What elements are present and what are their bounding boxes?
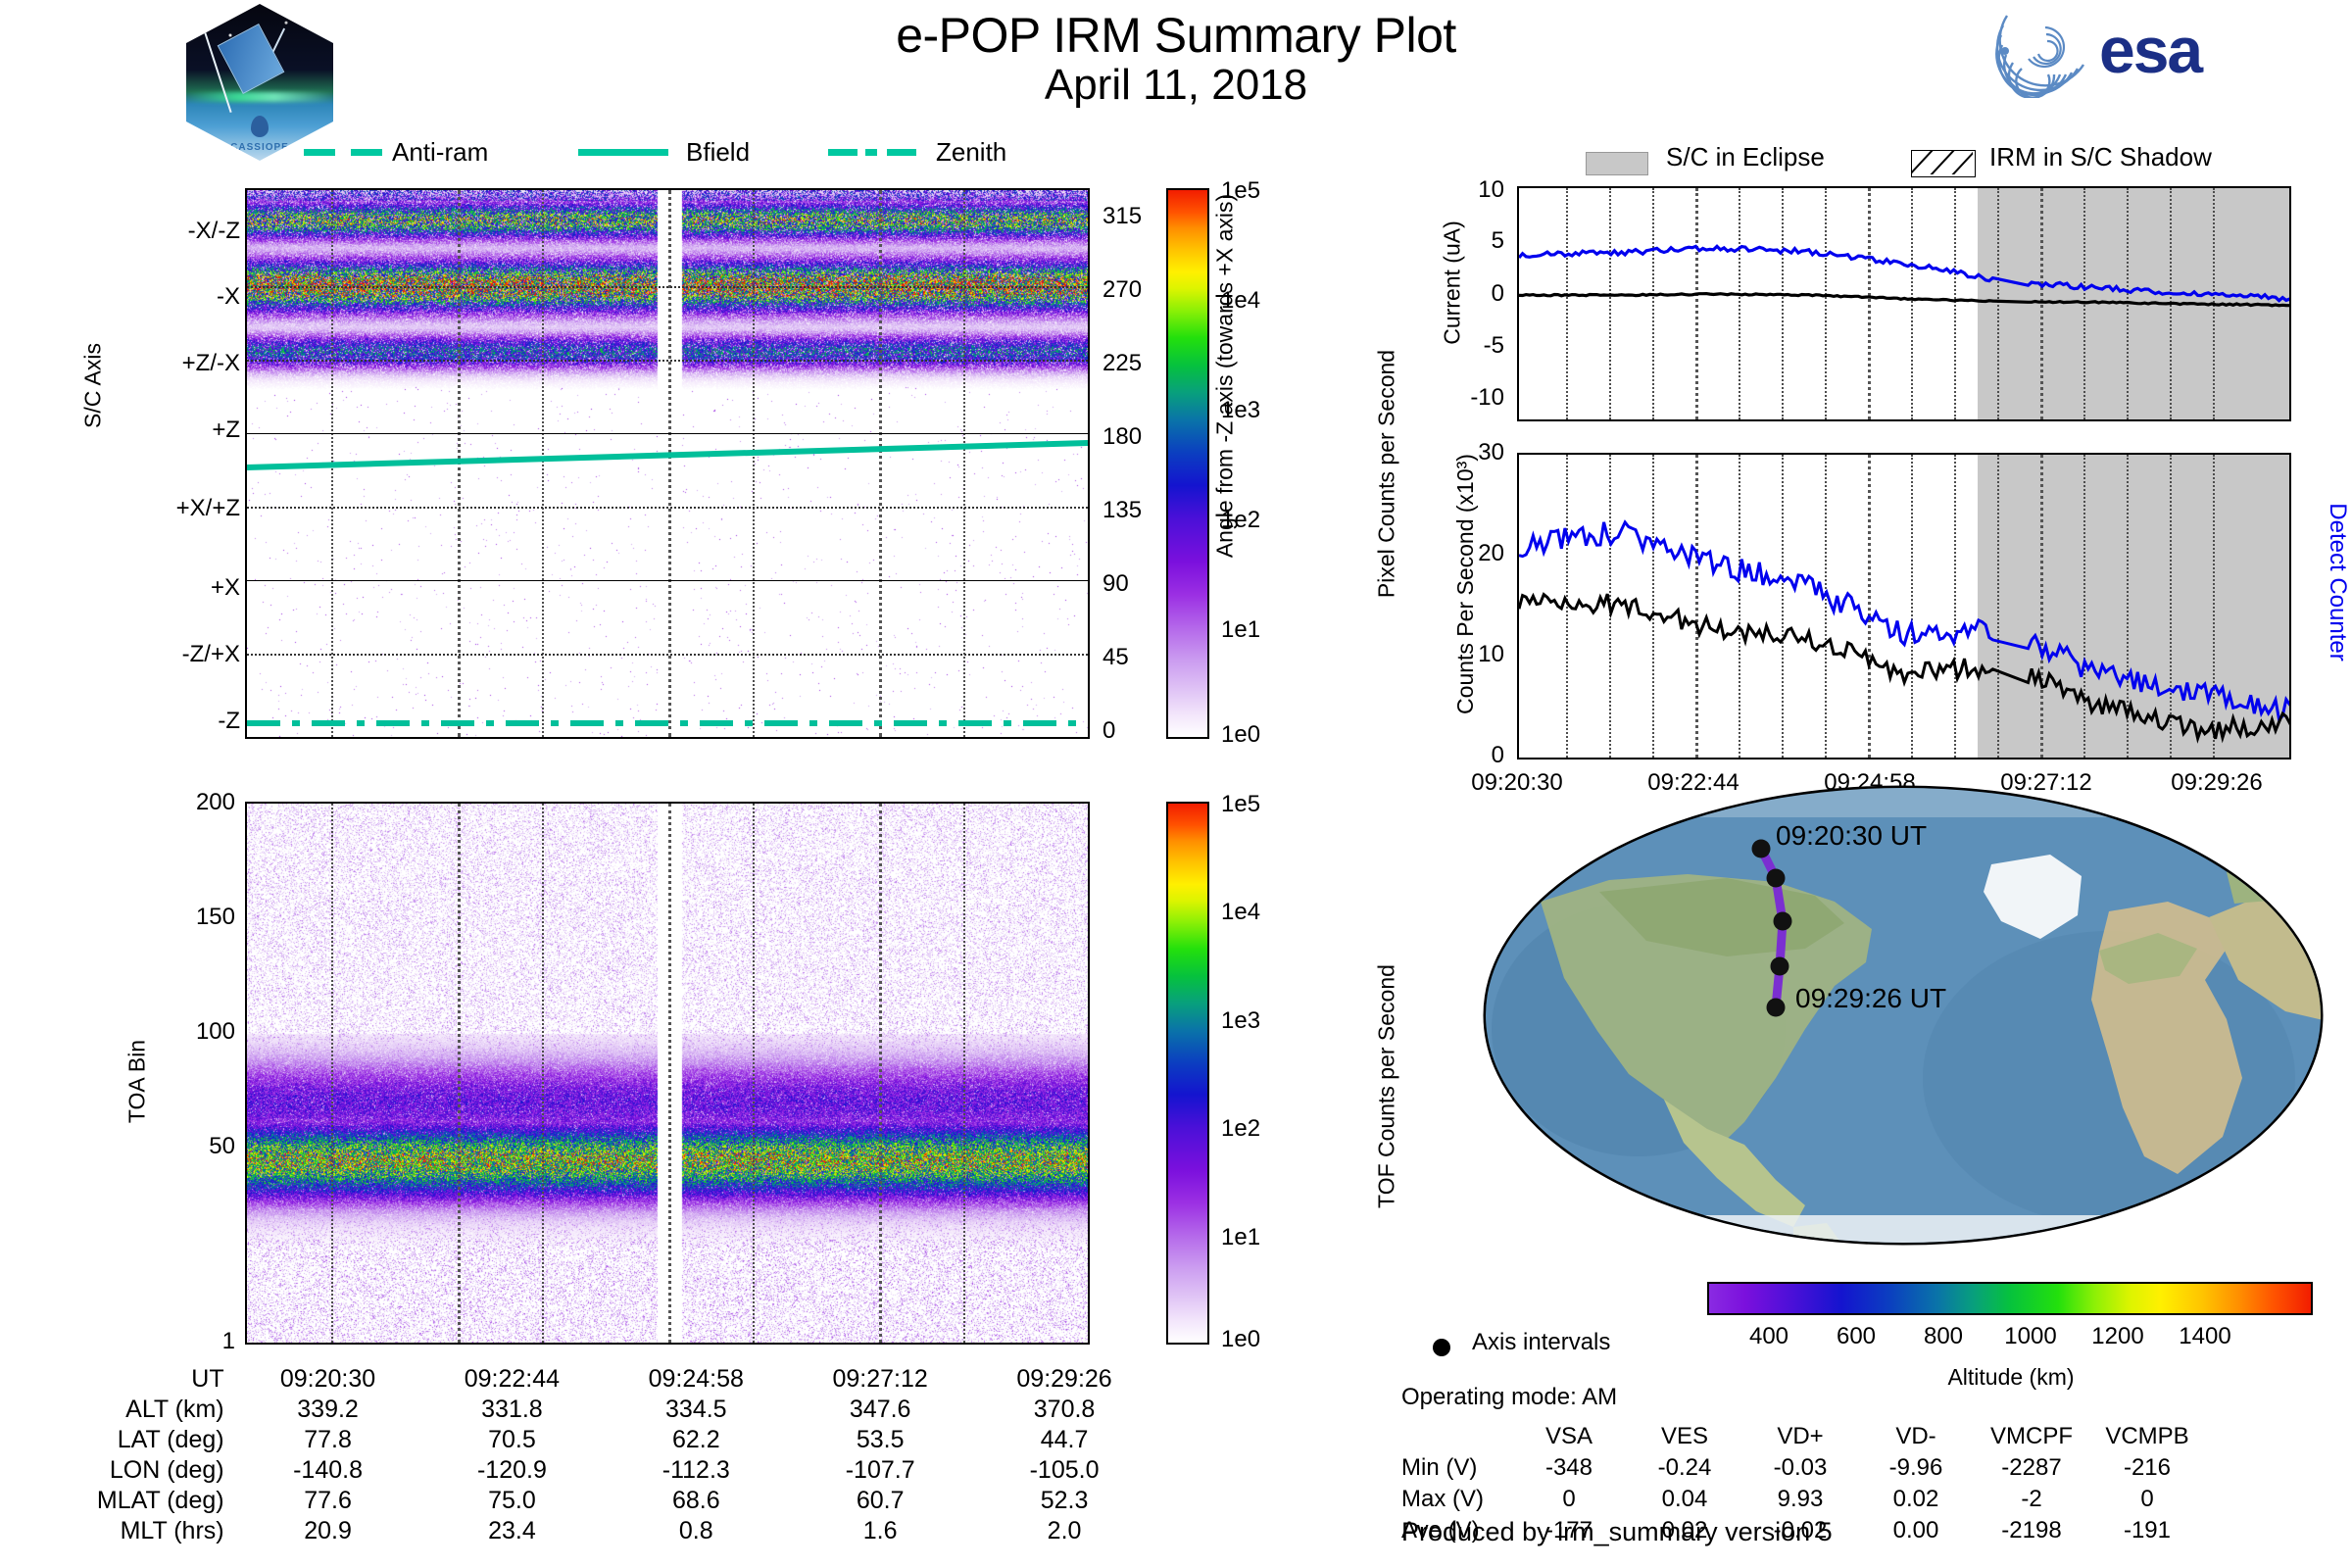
table-row: MLT (hrs) 20.9 23.4 0.8 1.6 2.0 bbox=[39, 1516, 1156, 1546]
eph-row-label-mlt: MLT (hrs) bbox=[39, 1516, 236, 1546]
tof-counts-colorbar bbox=[1166, 802, 1209, 1345]
eph-alt-0: 339.2 bbox=[236, 1395, 420, 1425]
eph-lat-0: 77.8 bbox=[236, 1425, 420, 1455]
eph-mlat-1: 75.0 bbox=[419, 1486, 604, 1516]
volt-max-vsa: 0 bbox=[1511, 1484, 1627, 1515]
eph-ut-4: 09:29:26 bbox=[972, 1364, 1156, 1395]
volt-col-vdp: VD+ bbox=[1742, 1421, 1858, 1452]
volt-col-vcmpb: VCMPB bbox=[2089, 1421, 2205, 1452]
pixel-cbar-tick-3: 1e2 bbox=[1221, 507, 1260, 534]
eph-row-label-alt: ALT (km) bbox=[39, 1395, 236, 1425]
counts-ytick-0: 30 bbox=[1426, 439, 1504, 466]
page-subtitle: April 11, 2018 bbox=[588, 59, 1764, 112]
pixel-counts-colorbar-label: Pixel Counts per Second bbox=[1374, 278, 1400, 670]
legend-label-irm-shadow: IRM in S/C Shadow bbox=[1989, 142, 2212, 172]
eph-mlat-0: 77.6 bbox=[236, 1486, 420, 1516]
altitude-tick-4: 1200 bbox=[2074, 1323, 2162, 1350]
sc-axis-ytick-0: -X/-Z bbox=[78, 218, 240, 245]
volt-min-ves: -0.24 bbox=[1627, 1452, 1742, 1484]
toa-ytick-3: 50 bbox=[147, 1133, 235, 1160]
volt-row-label-min: Min (V) bbox=[1401, 1452, 1511, 1484]
eph-lon-1: -120.9 bbox=[419, 1455, 604, 1486]
legend-swatch-sc-eclipse bbox=[1586, 152, 1648, 175]
volt-max-vdm: 0.02 bbox=[1858, 1484, 1974, 1515]
sc-angle-ytick-0: 315 bbox=[1102, 203, 1142, 230]
table-row: VSA VES VD+ VD- VMCPF VCMPB bbox=[1401, 1421, 2205, 1452]
eph-ut-3: 09:27:12 bbox=[788, 1364, 972, 1395]
volt-corner bbox=[1401, 1421, 1511, 1452]
sc-angle-ytick-1: 270 bbox=[1102, 276, 1142, 304]
eph-row-label-lon: LON (deg) bbox=[39, 1455, 236, 1486]
eph-mlt-4: 2.0 bbox=[972, 1516, 1156, 1546]
volt-col-vmcpf: VMCPF bbox=[1974, 1421, 2089, 1452]
sc-axis-ytick-2: +Z/-X bbox=[78, 350, 240, 377]
volt-min-vmcpf: -2287 bbox=[1974, 1452, 2089, 1484]
current-ytick-4: -10 bbox=[1426, 384, 1504, 412]
tof-cbar-tick-2: 1e3 bbox=[1221, 1007, 1260, 1035]
altitude-colorbar bbox=[1707, 1282, 2313, 1315]
pixel-cbar-tick-0: 1e5 bbox=[1221, 177, 1260, 205]
eph-mlt-1: 23.4 bbox=[419, 1516, 604, 1546]
volt-min-vsa: -348 bbox=[1511, 1452, 1627, 1484]
sc-axis-ytick-7: -Z bbox=[78, 708, 240, 735]
sc-axis-ytick-1: -X bbox=[78, 283, 240, 311]
current-ytick-1: 5 bbox=[1426, 227, 1504, 255]
counts-ylabel: Counts Per Second (x10³) bbox=[1451, 437, 1479, 731]
altitude-tick-2: 800 bbox=[1899, 1323, 1987, 1350]
eph-lon-3: -107.7 bbox=[788, 1455, 972, 1486]
toa-ytick-1: 150 bbox=[147, 904, 235, 931]
eph-ut-0: 09:20:30 bbox=[236, 1364, 420, 1395]
eph-alt-2: 334.5 bbox=[604, 1395, 788, 1425]
eph-lat-1: 70.5 bbox=[419, 1425, 604, 1455]
axis-interval-dot-icon bbox=[1433, 1339, 1450, 1356]
volt-max-ves: 0.04 bbox=[1627, 1484, 1742, 1515]
pixel-cbar-tick-5: 1e0 bbox=[1221, 721, 1260, 749]
sc-angle-ytick-2: 225 bbox=[1102, 350, 1142, 377]
current-ytick-2: 0 bbox=[1426, 280, 1504, 308]
legend-swatch-zenith bbox=[828, 149, 918, 156]
esa-wordmark: esa bbox=[2099, 18, 2201, 82]
table-row: Max (V) 0 0.04 9.93 0.02 -2 0 bbox=[1401, 1484, 2205, 1515]
legend-swatch-irm-shadow bbox=[1911, 150, 1976, 177]
ground-track-map[interactable]: 09:20:30 UT 09:29:26 UT bbox=[1482, 784, 2325, 1247]
eph-lat-2: 62.2 bbox=[604, 1425, 788, 1455]
sc-axis-overlay-curves bbox=[247, 190, 1088, 737]
eph-row-label-lat: LAT (deg) bbox=[39, 1425, 236, 1455]
cassiope-mission-patch-logo: CASSIOPE bbox=[186, 4, 333, 161]
map-end-time-label: 09:29:26 UT bbox=[1795, 983, 1946, 1014]
tof-counts-colorbar-label: TOF Counts per Second bbox=[1374, 891, 1400, 1283]
counts-ytick-2: 10 bbox=[1426, 641, 1504, 668]
counts-series-lines bbox=[1519, 455, 2291, 759]
legend-swatch-anti-ram bbox=[304, 149, 382, 155]
tof-cbar-tick-5: 1e0 bbox=[1221, 1326, 1260, 1353]
table-row: MLAT (deg) 77.6 75.0 68.6 60.7 52.3 bbox=[39, 1486, 1156, 1516]
volt-col-vdm: VD- bbox=[1858, 1421, 1974, 1452]
table-row: LON (deg) -140.8 -120.9 -112.3 -107.7 -1… bbox=[39, 1455, 1156, 1486]
altitude-tick-1: 600 bbox=[1812, 1323, 1900, 1350]
sc-axis-ytick-5: +X bbox=[78, 574, 240, 602]
altitude-tick-5: 1400 bbox=[2161, 1323, 2249, 1350]
current-ytick-0: 10 bbox=[1426, 176, 1504, 204]
volt-max-vdp: 9.93 bbox=[1742, 1484, 1858, 1515]
sc-angle-ytick-7: 0 bbox=[1102, 717, 1115, 745]
eph-mlat-2: 68.6 bbox=[604, 1486, 788, 1516]
tof-cbar-tick-3: 1e2 bbox=[1221, 1115, 1260, 1143]
legend-label-zenith: Zenith bbox=[936, 137, 1006, 168]
counts-right-label-blue: Detect Counter bbox=[2324, 440, 2351, 724]
volt-ave-vdm: 0.00 bbox=[1858, 1515, 1974, 1546]
table-row: LAT (deg) 77.8 70.5 62.2 53.5 44.7 bbox=[39, 1425, 1156, 1455]
eph-lat-3: 53.5 bbox=[788, 1425, 972, 1455]
operating-mode-label: Operating mode: AM bbox=[1401, 1384, 1617, 1411]
volt-ave-vmcpf: -2198 bbox=[1974, 1515, 2089, 1546]
toa-ytick-4: 1 bbox=[147, 1328, 235, 1355]
current-series-lines bbox=[1519, 188, 2291, 421]
sc-angle-ytick-4: 135 bbox=[1102, 497, 1142, 524]
sc-angle-ytick-5: 90 bbox=[1102, 570, 1129, 598]
map-start-time-label: 09:20:30 UT bbox=[1776, 820, 1927, 852]
volt-min-vcmpb: -216 bbox=[2089, 1452, 2205, 1484]
sc-axis-ytick-4: +X/+Z bbox=[78, 495, 240, 522]
eph-lat-4: 44.7 bbox=[972, 1425, 1156, 1455]
eph-mlat-3: 60.7 bbox=[788, 1486, 972, 1516]
volt-max-vcmpb: 0 bbox=[2089, 1484, 2205, 1515]
counts-ytick-1: 20 bbox=[1426, 540, 1504, 567]
sc-axis-ylabel: S/C Axis bbox=[80, 288, 107, 484]
volt-max-vmcpf: -2 bbox=[1974, 1484, 2089, 1515]
pixel-counts-colorbar bbox=[1166, 188, 1209, 739]
sensor-surface-current-plot[interactable] bbox=[1517, 186, 2291, 421]
legend-label-bfield: Bfield bbox=[686, 137, 750, 168]
ephemeris-table: UT 09:20:30 09:22:44 09:24:58 09:27:12 0… bbox=[39, 1364, 1156, 1546]
eph-alt-3: 347.6 bbox=[788, 1395, 972, 1425]
tof-cbar-tick-4: 1e1 bbox=[1221, 1224, 1260, 1251]
eph-mlt-0: 20.9 bbox=[236, 1516, 420, 1546]
pixel-cbar-tick-2: 1e3 bbox=[1221, 397, 1260, 424]
esa-logo: esa bbox=[1989, 4, 2283, 98]
sc-angle-ytick-3: 180 bbox=[1102, 423, 1142, 451]
eph-lon-4: -105.0 bbox=[972, 1455, 1156, 1486]
eph-alt-1: 331.8 bbox=[419, 1395, 604, 1425]
table-row: ALT (km) 339.2 331.8 334.5 347.6 370.8 bbox=[39, 1395, 1156, 1425]
eph-row-label-mlat: MLAT (deg) bbox=[39, 1486, 236, 1516]
eph-ut-2: 09:24:58 bbox=[604, 1364, 788, 1395]
eph-mlt-3: 1.6 bbox=[788, 1516, 972, 1546]
eph-mlt-2: 0.8 bbox=[604, 1516, 788, 1546]
eph-ut-1: 09:22:44 bbox=[419, 1364, 604, 1395]
tof-cbar-tick-0: 1e5 bbox=[1221, 791, 1260, 818]
esa-swirl-icon bbox=[1989, 4, 2097, 98]
volt-min-vdp: -0.03 bbox=[1742, 1452, 1858, 1484]
sc-axis-spectrogram-plot[interactable] bbox=[245, 188, 1090, 739]
sc-axis-ytick-6: -Z/+X bbox=[78, 641, 240, 668]
toa-ytick-0: 200 bbox=[147, 789, 235, 816]
pixel-cbar-tick-1: 1e4 bbox=[1221, 287, 1260, 315]
altitude-tick-0: 400 bbox=[1725, 1323, 1813, 1350]
legend-swatch-bfield bbox=[578, 149, 668, 156]
eph-mlat-4: 52.3 bbox=[972, 1486, 1156, 1516]
page-title: e-POP IRM Summary Plot bbox=[588, 6, 1764, 65]
legend-label-anti-ram: Anti-ram bbox=[392, 137, 488, 168]
footer-produced-by: Produced by irm_summary version 5 bbox=[1401, 1517, 1833, 1547]
altitude-colorbar-label: Altitude (km) bbox=[1825, 1364, 2197, 1391]
toa-ytick-2: 100 bbox=[147, 1018, 235, 1046]
toa-bin-spectrogram-plot[interactable] bbox=[245, 802, 1090, 1345]
eph-row-label-ut: UT bbox=[39, 1364, 236, 1395]
pixel-cbar-tick-4: 1e1 bbox=[1221, 616, 1260, 644]
counts-per-second-plot[interactable] bbox=[1517, 453, 2291, 759]
sc-angle-ytick-6: 45 bbox=[1102, 644, 1129, 671]
table-row: Min (V) -348 -0.24 -0.03 -9.96 -2287 -21… bbox=[1401, 1452, 2205, 1484]
current-ytick-3: -5 bbox=[1426, 332, 1504, 360]
altitude-tick-3: 1000 bbox=[1986, 1323, 2075, 1350]
eph-lon-0: -140.8 bbox=[236, 1455, 420, 1486]
volt-ave-vcmpb: -191 bbox=[2089, 1515, 2205, 1546]
volt-col-vsa: VSA bbox=[1511, 1421, 1627, 1452]
sc-axis-ytick-3: +Z bbox=[78, 416, 240, 444]
volt-row-label-max: Max (V) bbox=[1401, 1484, 1511, 1515]
eph-alt-4: 370.8 bbox=[972, 1395, 1156, 1425]
eph-lon-2: -112.3 bbox=[604, 1455, 788, 1486]
volt-col-ves: VES bbox=[1627, 1421, 1742, 1452]
legend-label-sc-eclipse: S/C in Eclipse bbox=[1666, 142, 1825, 172]
counts-ytick-3: 0 bbox=[1426, 742, 1504, 769]
tof-cbar-tick-1: 1e4 bbox=[1221, 899, 1260, 926]
axis-intervals-label: Axis intervals bbox=[1472, 1329, 1610, 1356]
volt-min-vdm: -9.96 bbox=[1858, 1452, 1974, 1484]
table-row: UT 09:20:30 09:22:44 09:24:58 09:27:12 0… bbox=[39, 1364, 1156, 1395]
